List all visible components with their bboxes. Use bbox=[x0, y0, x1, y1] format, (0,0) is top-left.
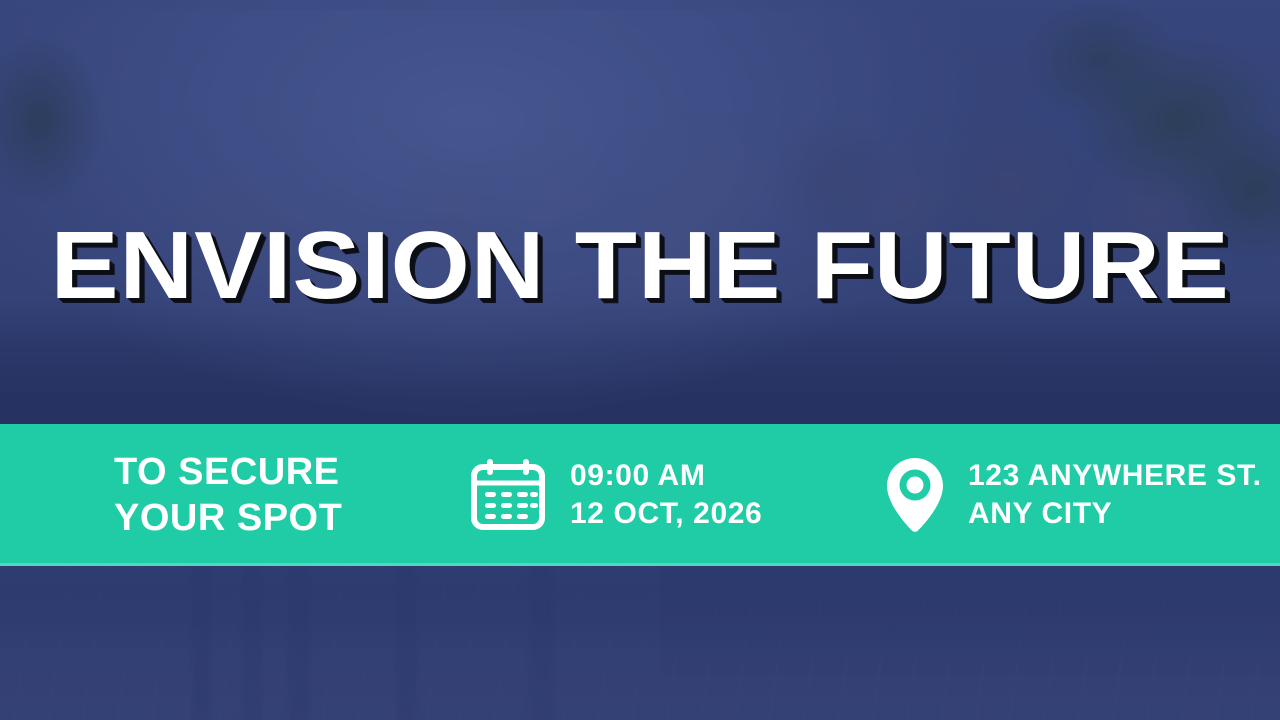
headline-container: ENVISION THE FUTURE bbox=[0, 216, 1280, 316]
event-time: 09:00 AM bbox=[570, 457, 762, 495]
event-day: 12 OCT, 2026 bbox=[570, 495, 762, 533]
event-location-text: 123 ANYWHERE ST. ANY CITY bbox=[968, 457, 1262, 533]
event-location-block: 123 ANYWHERE ST. ANY CITY bbox=[884, 456, 1262, 534]
calendar-icon bbox=[468, 457, 548, 533]
location-line-2: ANY CITY bbox=[968, 495, 1262, 533]
location-line-1: 123 ANYWHERE ST. bbox=[968, 457, 1262, 495]
cta-line-2: YOUR SPOT bbox=[114, 495, 342, 541]
contact-bar: +123-456-7890 Mail@brandname.com www.bra… bbox=[0, 566, 1280, 720]
event-date-text: 09:00 AM 12 OCT, 2026 bbox=[570, 457, 762, 533]
page-title: ENVISION THE FUTURE bbox=[50, 216, 1229, 316]
event-info-banner: TO SECURE YOUR SPOT bbox=[0, 424, 1280, 566]
event-date-block: 09:00 AM 12 OCT, 2026 bbox=[468, 457, 762, 533]
event-poster: ENVISION THE FUTURE TO SECURE YOUR SPOT bbox=[0, 0, 1280, 720]
cta-text: TO SECURE YOUR SPOT bbox=[114, 449, 342, 541]
cta-line-1: TO SECURE bbox=[114, 449, 342, 495]
map-pin-icon bbox=[884, 456, 946, 534]
